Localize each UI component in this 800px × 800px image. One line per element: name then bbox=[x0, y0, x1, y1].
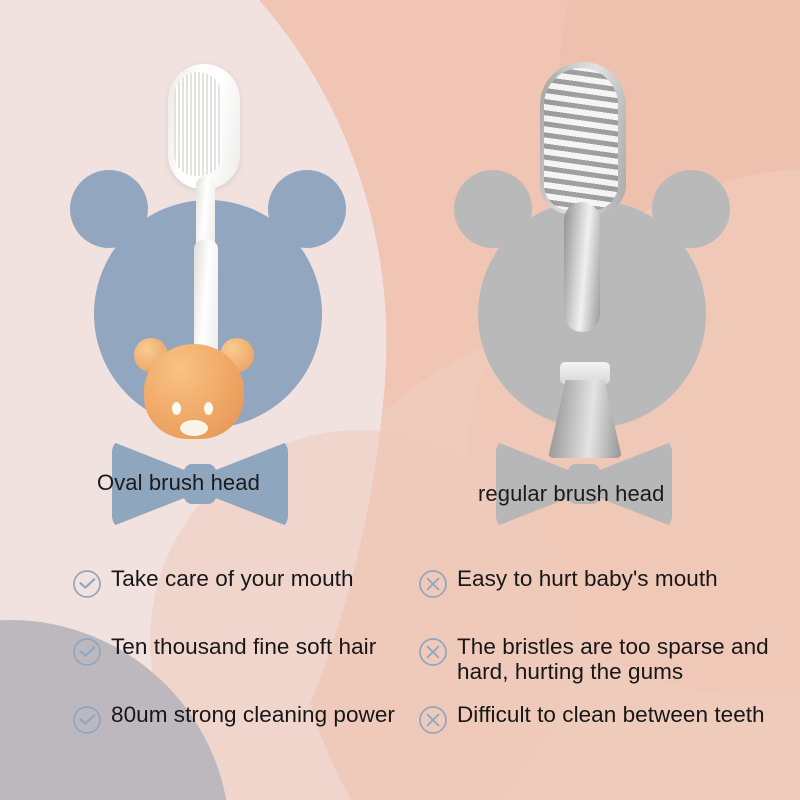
feature-con-text: Easy to hurt baby's mouth bbox=[457, 566, 718, 591]
product-comparison-infographic: Oval brush head regular brush head Take … bbox=[0, 0, 800, 800]
feature-con-text: Difficult to clean between teeth bbox=[457, 702, 765, 727]
feature-pro-text: Take care of your mouth bbox=[111, 566, 354, 591]
bear-cap-eye-left bbox=[172, 402, 181, 415]
x-circle-icon bbox=[418, 569, 448, 599]
brush-head-neck bbox=[564, 202, 600, 332]
toothbrush-bristles bbox=[174, 72, 222, 176]
orange-bear-cap bbox=[128, 332, 258, 437]
bear-cap-snout bbox=[180, 420, 208, 436]
check-circle-icon bbox=[72, 569, 102, 599]
feature-pro-cell: Ten thousand fine soft hair bbox=[72, 634, 376, 667]
feature-con-cell: The bristles are too sparse and hard, hu… bbox=[418, 634, 787, 684]
brush-head-bristles bbox=[544, 68, 618, 210]
x-circle-icon bbox=[418, 705, 448, 735]
feature-con-text: The bristles are too sparse and hard, hu… bbox=[457, 634, 787, 684]
x-circle-icon bbox=[418, 637, 448, 667]
feature-pro-text: Ten thousand fine soft hair bbox=[111, 634, 376, 659]
feature-row: Ten thousand fine soft hair The bristles… bbox=[0, 634, 800, 702]
feature-pro-text: 80um strong cleaning power bbox=[111, 702, 395, 727]
check-circle-icon bbox=[72, 705, 102, 735]
gray-regular-brush-head bbox=[512, 62, 662, 472]
feature-con-cell: Easy to hurt baby's mouth bbox=[418, 566, 718, 599]
check-circle-icon bbox=[72, 637, 102, 667]
bear-cap-eye-right bbox=[204, 402, 213, 415]
feature-con-cell: Difficult to clean between teeth bbox=[418, 702, 765, 735]
feature-pro-cell: 80um strong cleaning power bbox=[72, 702, 395, 735]
caption-oval-brush-head: Oval brush head bbox=[97, 470, 260, 496]
comparison-feature-list: Take care of your mouth Easy to hurt bab… bbox=[0, 566, 800, 770]
feature-pro-cell: Take care of your mouth bbox=[72, 566, 354, 599]
caption-regular-brush-head: regular brush head bbox=[478, 481, 664, 507]
feature-row: Take care of your mouth Easy to hurt bab… bbox=[0, 566, 800, 634]
feature-row: 80um strong cleaning power Difficult to … bbox=[0, 702, 800, 770]
